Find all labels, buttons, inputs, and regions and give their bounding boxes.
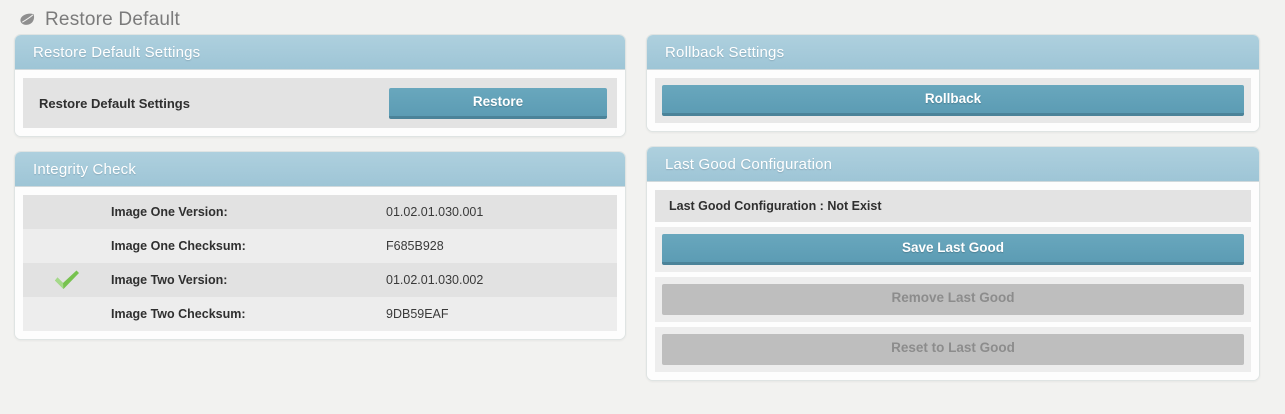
integrity-check-table-body: Image One Version: 01.02.01.030.001 Imag… (23, 195, 617, 331)
reset-to-last-good-button: Reset to Last Good (662, 334, 1244, 365)
left-column: Restore Default Settings Restore Default… (14, 34, 626, 395)
panel-rollback-settings: Rollback Settings Rollback (646, 34, 1260, 132)
row-check-cell (23, 195, 111, 229)
integrity-check-table: Image One Version: 01.02.01.030.001 Imag… (23, 195, 617, 331)
last-good-status: Last Good Configuration : Not Exist (655, 190, 1251, 222)
remove-last-good-wrap: Remove Last Good (655, 277, 1251, 322)
panel-body-rollback: Rollback (647, 70, 1259, 131)
panel-header-rollback: Rollback Settings (647, 35, 1259, 70)
remove-last-good-button: Remove Last Good (662, 284, 1244, 315)
table-row: Image One Version: 01.02.01.030.001 (23, 195, 617, 229)
panel-integrity-check: Integrity Check Image One Version: 01.02… (14, 151, 626, 340)
row-check-cell (23, 297, 111, 331)
save-last-good-button[interactable]: Save Last Good (662, 234, 1244, 265)
row-label: Image One Version: (111, 195, 386, 229)
row-check-cell (23, 263, 111, 297)
panel-body-integrity-check: Image One Version: 01.02.01.030.001 Imag… (15, 187, 625, 339)
panel-last-good-configuration: Last Good Configuration Last Good Config… (646, 146, 1260, 381)
rollback-button-wrap: Rollback (655, 78, 1251, 123)
panel-body-restore-default: Restore Default Settings Restore (15, 70, 625, 136)
row-value: 01.02.01.030.002 (386, 263, 617, 297)
row-label: Image One Checksum: (111, 229, 386, 263)
restore-default-row-label: Restore Default Settings (39, 96, 190, 111)
rollback-button[interactable]: Rollback (662, 85, 1244, 116)
page-title: Restore Default (45, 9, 180, 31)
panel-body-last-good: Last Good Configuration : Not Exist Save… (647, 182, 1259, 380)
table-row: Image Two Checksum: 9DB59EAF (23, 297, 617, 331)
row-value: F685B928 (386, 229, 617, 263)
row-check-cell (23, 229, 111, 263)
content-columns: Restore Default Settings Restore Default… (0, 34, 1285, 395)
row-label: Image Two Version: (111, 263, 386, 297)
panel-title-integrity-check: Integrity Check (33, 161, 136, 178)
reset-to-last-good-wrap: Reset to Last Good (655, 327, 1251, 372)
panel-title-restore-default: Restore Default Settings (33, 44, 200, 61)
restore-button[interactable]: Restore (389, 88, 607, 119)
panel-title-rollback: Rollback Settings (665, 44, 784, 61)
panel-restore-default-settings: Restore Default Settings Restore Default… (14, 34, 626, 137)
panel-header-last-good: Last Good Configuration (647, 147, 1259, 182)
row-label: Image Two Checksum: (111, 297, 386, 331)
restore-default-row: Restore Default Settings Restore (23, 78, 617, 128)
panel-header-integrity-check: Integrity Check (15, 152, 625, 187)
panel-header-restore-default: Restore Default Settings (15, 35, 625, 70)
table-row: Image Two Version: 01.02.01.030.002 (23, 263, 617, 297)
page-title-bar: Restore Default (0, 0, 1285, 34)
row-value: 01.02.01.030.001 (386, 195, 617, 229)
leaf-icon (18, 11, 36, 29)
green-check-icon (52, 271, 82, 288)
right-column: Rollback Settings Rollback Last Good Con… (646, 34, 1260, 395)
save-last-good-wrap: Save Last Good (655, 227, 1251, 272)
row-value: 9DB59EAF (386, 297, 617, 331)
panel-title-last-good: Last Good Configuration (665, 156, 832, 173)
table-row: Image One Checksum: F685B928 (23, 229, 617, 263)
